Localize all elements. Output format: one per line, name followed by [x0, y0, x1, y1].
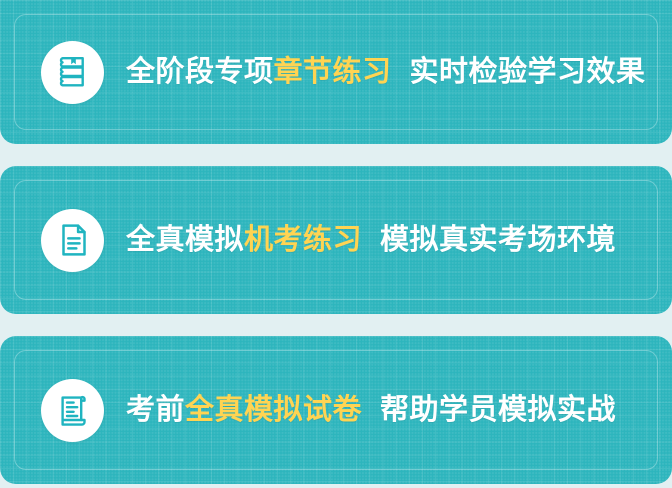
card-content-row: 考前全真模拟试卷帮助学员模拟实战	[0, 336, 672, 484]
card-title: 考前全真模拟试卷帮助学员模拟实战	[126, 396, 616, 425]
feature-card-mock-paper[interactable]: 考前全真模拟试卷帮助学员模拟实战	[0, 336, 672, 484]
card-title-plain-2: 帮助学员模拟实战	[380, 394, 616, 426]
feature-card-chapter-practice[interactable]: 全阶段专项章节练习实时检验学习效果	[0, 0, 672, 144]
card-content-row: 全阶段专项章节练习实时检验学习效果	[0, 0, 672, 144]
card-title-plain-2: 模拟真实考场环境	[380, 224, 616, 256]
card-title: 全真模拟机考练习模拟真实考场环境	[126, 226, 616, 255]
card-content-row: 全真模拟机考练习模拟真实考场环境	[0, 166, 672, 314]
exam-scroll-icon	[41, 379, 104, 442]
card-title-plain-1: 考前	[126, 394, 185, 426]
feature-card-mock-exam-practice[interactable]: 全真模拟机考练习模拟真实考场环境	[0, 166, 672, 314]
card-title-highlight: 全真模拟试卷	[185, 394, 362, 426]
card-title-plain-1: 全真模拟	[126, 224, 244, 256]
card-title-plain-2: 实时检验学习效果	[410, 56, 646, 88]
card-title: 全阶段专项章节练习实时检验学习效果	[126, 58, 646, 87]
feature-card-list: 全阶段专项章节练习实时检验学习效果 全真模拟机考练习模拟真实考场环境	[0, 0, 672, 488]
card-title-highlight: 机考练习	[244, 224, 362, 256]
card-title-highlight: 章节练习	[274, 56, 392, 88]
stacked-books-icon	[41, 41, 104, 104]
document-icon	[41, 209, 104, 272]
card-title-plain-1: 全阶段专项	[126, 56, 274, 88]
